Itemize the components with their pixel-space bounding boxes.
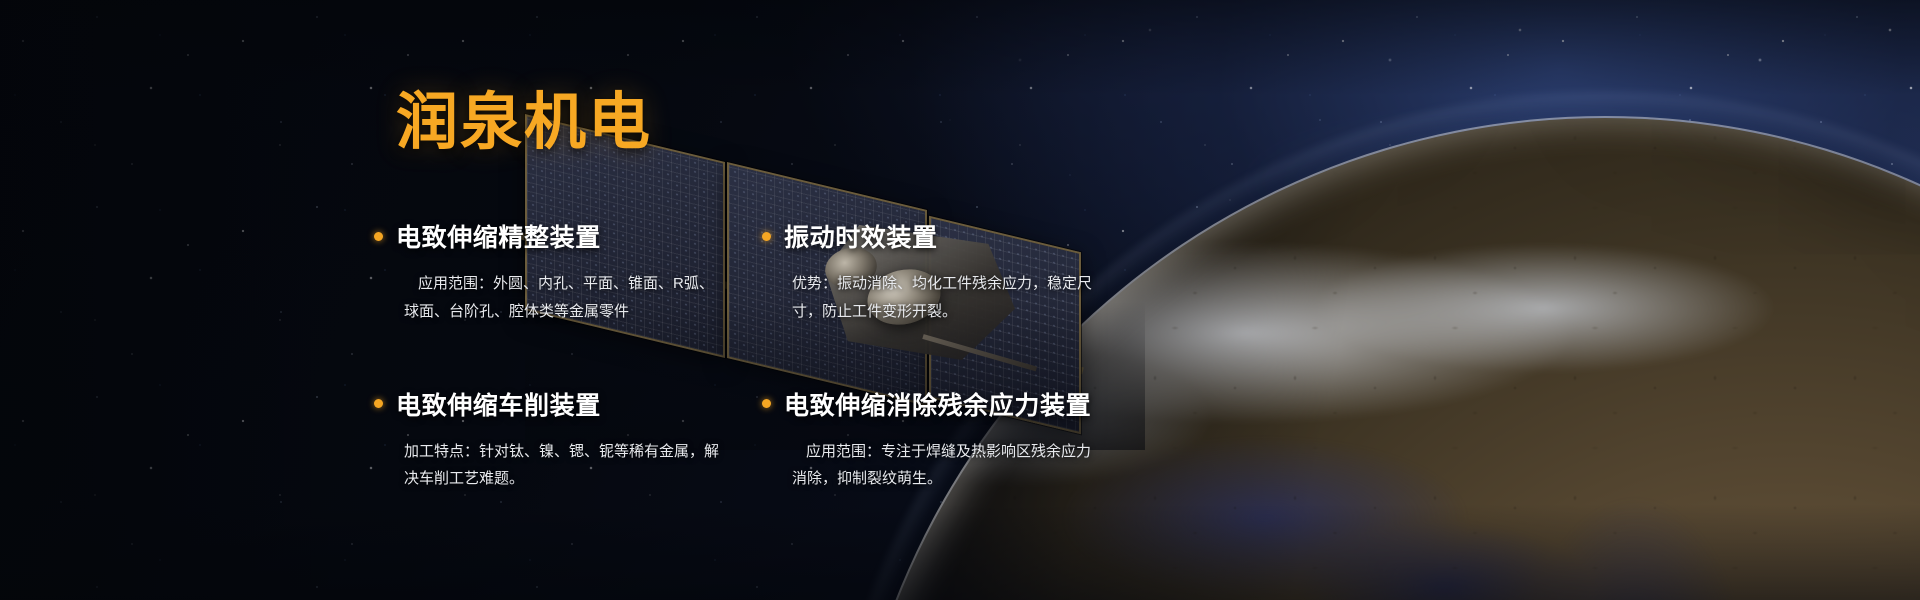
feature-item[interactable]: 振动时效装置 优势：振动消除、均化工件残余应力，稳定尺寸，防止工件变形开裂。 (784, 218, 1144, 326)
hero-banner: 润泉机电 电致伸缩精整装置 应用范围：外圆、内孔、平面、锥面、R弧、球面、台阶孔… (0, 0, 1920, 600)
brand-title: 润泉机电 (396, 92, 652, 154)
bullet-dot-icon (374, 399, 383, 408)
bullet-dot-icon (374, 232, 383, 241)
feature-item[interactable]: 电致伸缩消除残余应力装置 应用范围：专注于焊缝及热影响区残余应力消除，抑制裂纹萌… (784, 386, 1144, 494)
feature-description: 应用范围：外圆、内孔、平面、锥面、R弧、球面、台阶孔、腔体类等金属零件 (404, 270, 720, 326)
feature-item[interactable]: 电致伸缩精整装置 应用范围：外圆、内孔、平面、锥面、R弧、球面、台阶孔、腔体类等… (396, 218, 756, 326)
feature-title: 电致伸缩消除残余应力装置 (784, 386, 1091, 422)
feature-description: 优势：振动消除、均化工件残余应力，稳定尺寸，防止工件变形开裂。 (792, 270, 1092, 326)
feature-description: 加工特点：针对钛、镍、锶、铌等稀有金属，解决车削工艺难题。 (404, 438, 720, 494)
feature-item[interactable]: 电致伸缩车削装置 加工特点：针对钛、镍、锶、铌等稀有金属，解决车削工艺难题。 (396, 386, 756, 494)
feature-heading: 电致伸缩精整装置 (396, 218, 756, 254)
hero-content: 润泉机电 电致伸缩精整装置 应用范围：外圆、内孔、平面、锥面、R弧、球面、台阶孔… (0, 0, 1920, 600)
bullet-dot-icon (762, 399, 771, 408)
feature-title: 电致伸缩精整装置 (396, 218, 601, 254)
feature-description: 应用范围：专注于焊缝及热影响区残余应力消除，抑制裂纹萌生。 (792, 438, 1092, 494)
feature-title: 电致伸缩车削装置 (396, 386, 601, 422)
feature-title: 振动时效装置 (784, 218, 938, 254)
feature-heading: 电致伸缩车削装置 (396, 386, 756, 422)
feature-heading: 电致伸缩消除残余应力装置 (784, 386, 1144, 422)
feature-heading: 振动时效装置 (784, 218, 1144, 254)
feature-grid: 电致伸缩精整装置 应用范围：外圆、内孔、平面、锥面、R弧、球面、台阶孔、腔体类等… (396, 218, 1176, 493)
bullet-dot-icon (762, 232, 771, 241)
